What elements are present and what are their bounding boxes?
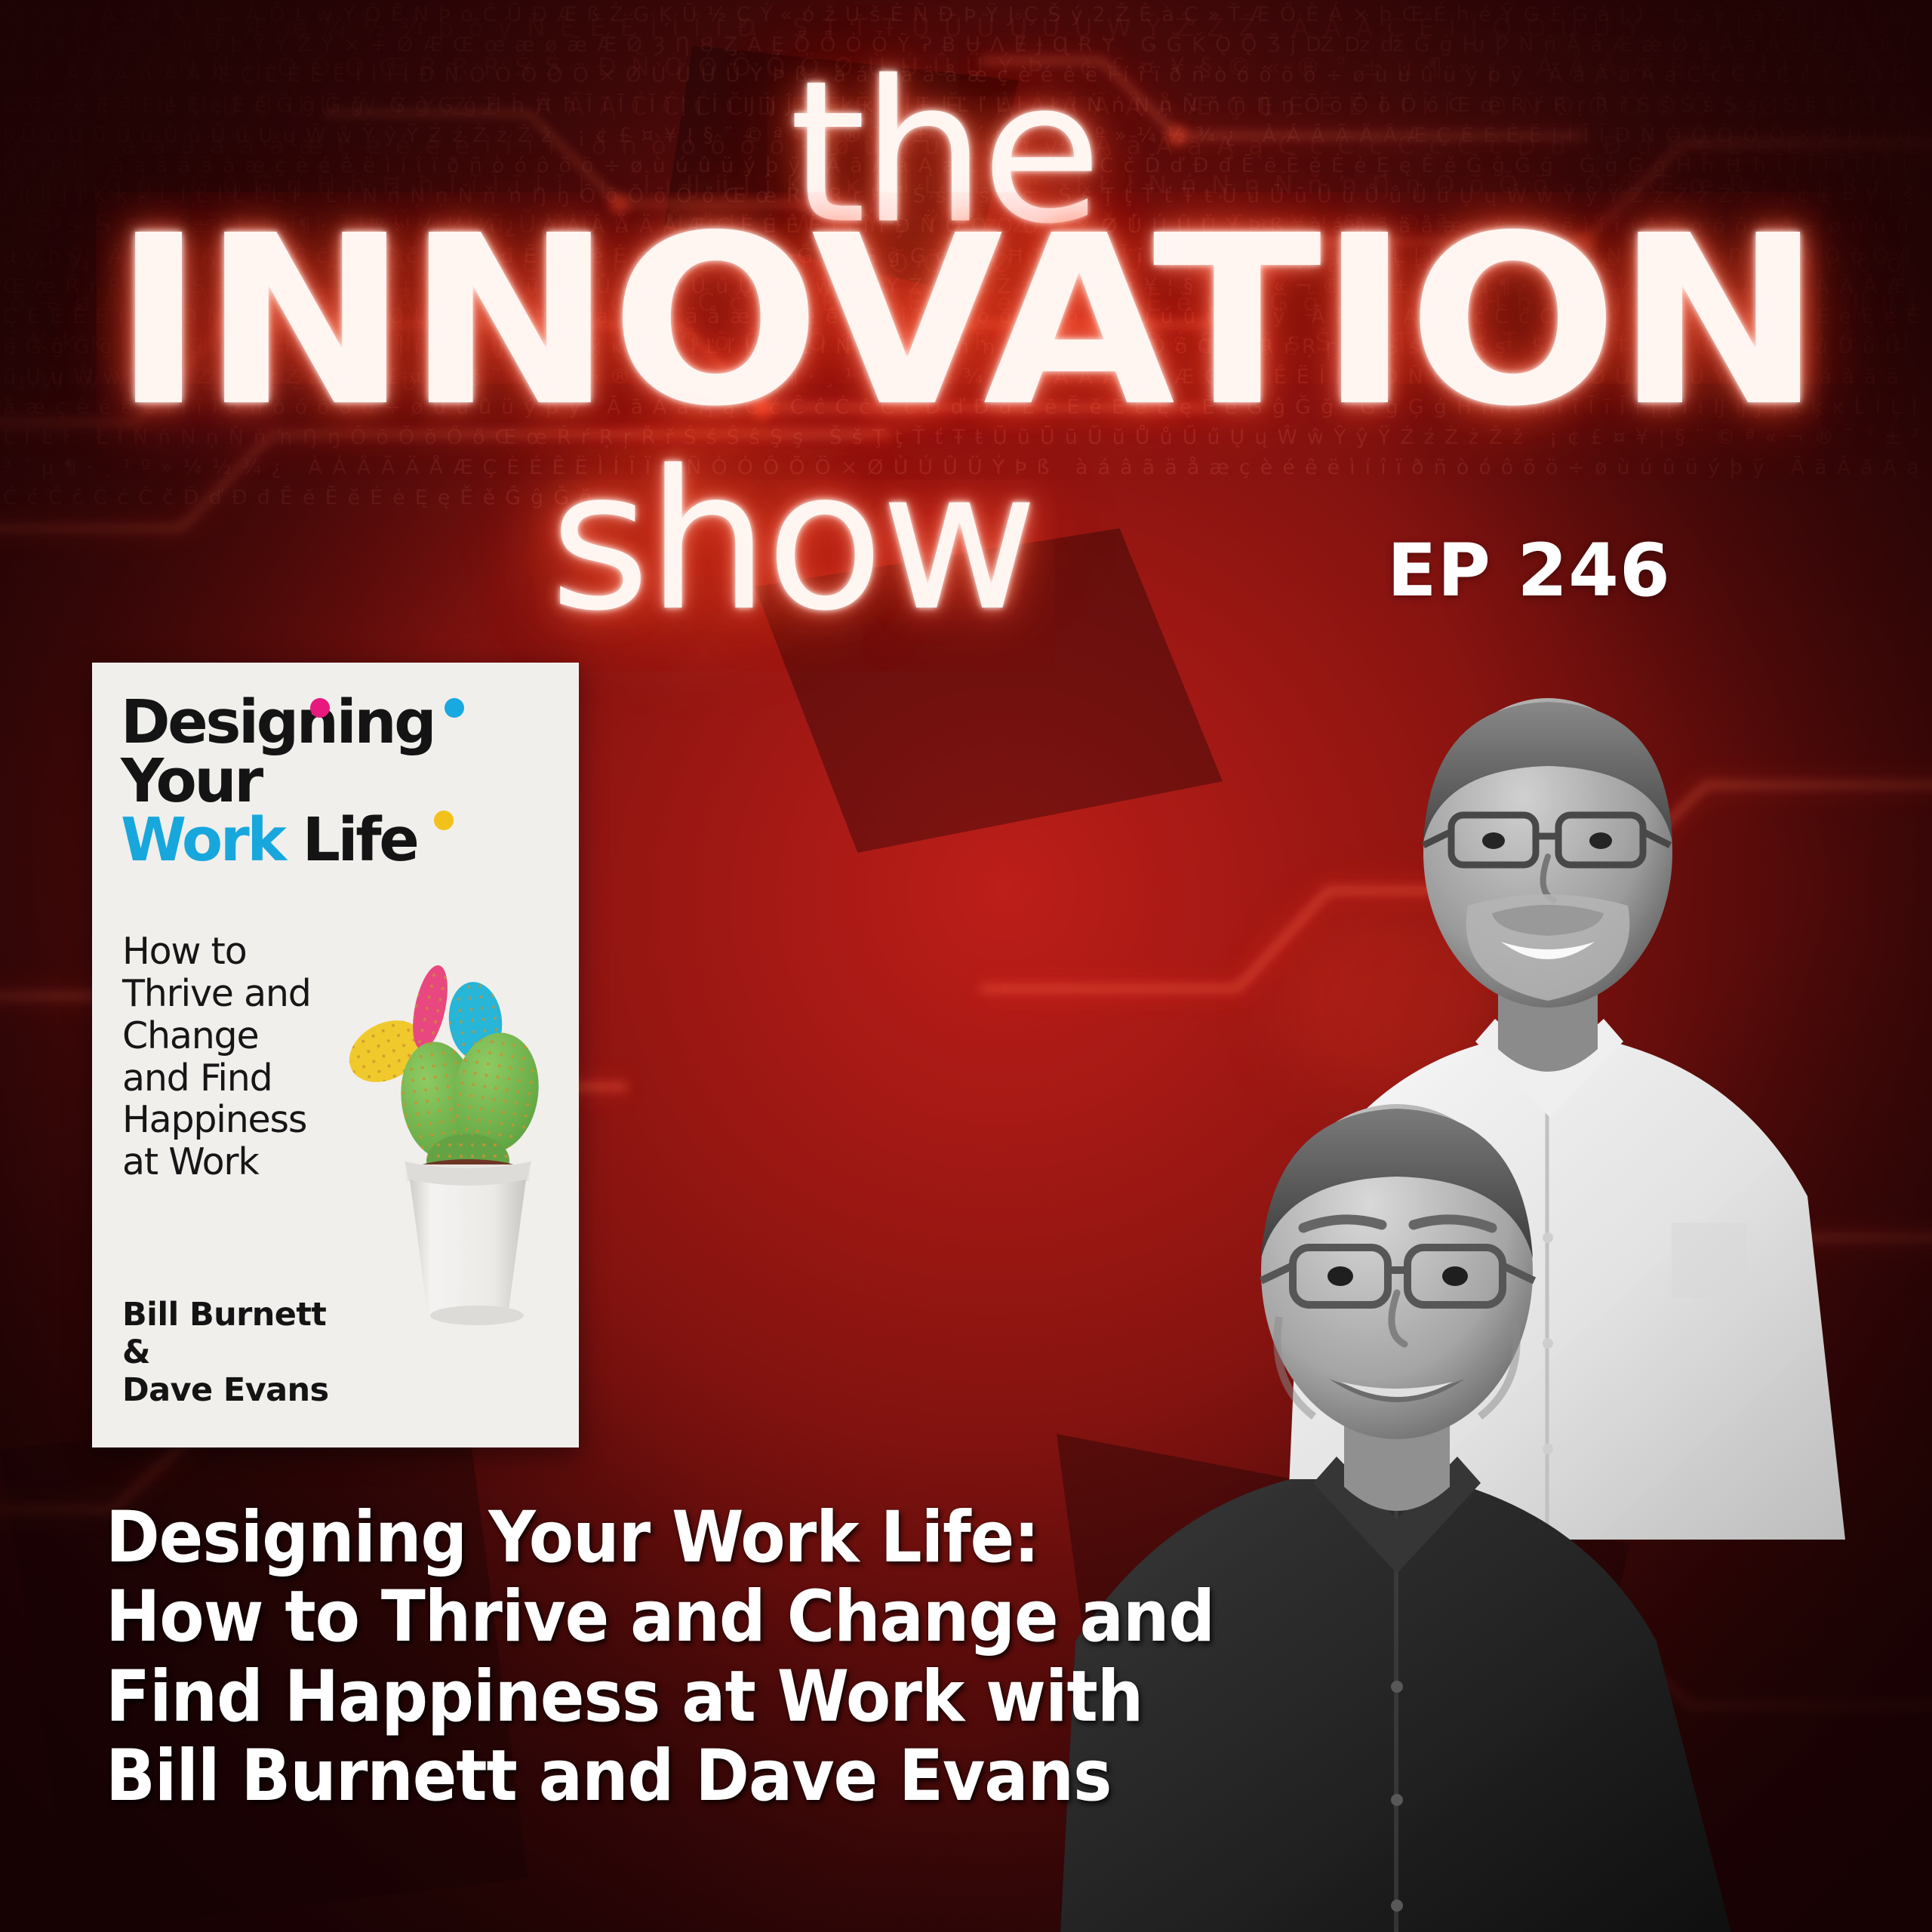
episode-title-line: Find Happiness at Work with [106, 1657, 1522, 1737]
book-subtitle-line: Thrive and [122, 972, 311, 1015]
podcast-cover-art: ŐPVwÅ¢4XĻ©ÀÔĻwYŐĒŅÞoČÜÐÆßŹGĶŪ½ÇÝ«óžŲšĖÑÐ… [0, 0, 1932, 1932]
book-title: Designing Your Work Life [121, 693, 574, 870]
episode-number-badge: EP 246 [1387, 528, 1671, 613]
episode-title: Designing Your Work Life: How to Thrive … [106, 1498, 1522, 1816]
book-author-line: Bill Burnett & [122, 1296, 326, 1371]
episode-title-line: How to Thrive and Change and [106, 1577, 1522, 1657]
episode-title-line: Bill Burnett and Dave Evans [106, 1737, 1522, 1816]
book-subtitle: How to Thrive and Change and Find Happin… [122, 931, 349, 1183]
yellow-dot-icon [434, 811, 454, 830]
logo-word-innovation: INNOVATION [0, 205, 1932, 439]
cyan-dot-icon [445, 698, 464, 718]
cactus-illustration [334, 938, 560, 1338]
book-subtitle-line: at Work [122, 1140, 259, 1183]
book-subtitle-line: Happiness [122, 1098, 306, 1141]
book-author-line: Dave Evans [122, 1371, 329, 1409]
book-subtitle-line: Change [122, 1014, 258, 1057]
book-cover-image: Designing Your Work Life How to Thrive a… [92, 663, 579, 1447]
book-title-word-life: Life [303, 805, 417, 875]
book-subtitle-line: How to [122, 930, 246, 973]
book-subtitle-line: and Find [122, 1057, 272, 1100]
episode-title-line: Designing Your Work Life: [106, 1498, 1522, 1577]
book-title-word-work: Work [121, 805, 285, 875]
book-authors: Bill Burnett & Dave Evans [122, 1297, 364, 1410]
magenta-dot-icon [310, 698, 330, 718]
